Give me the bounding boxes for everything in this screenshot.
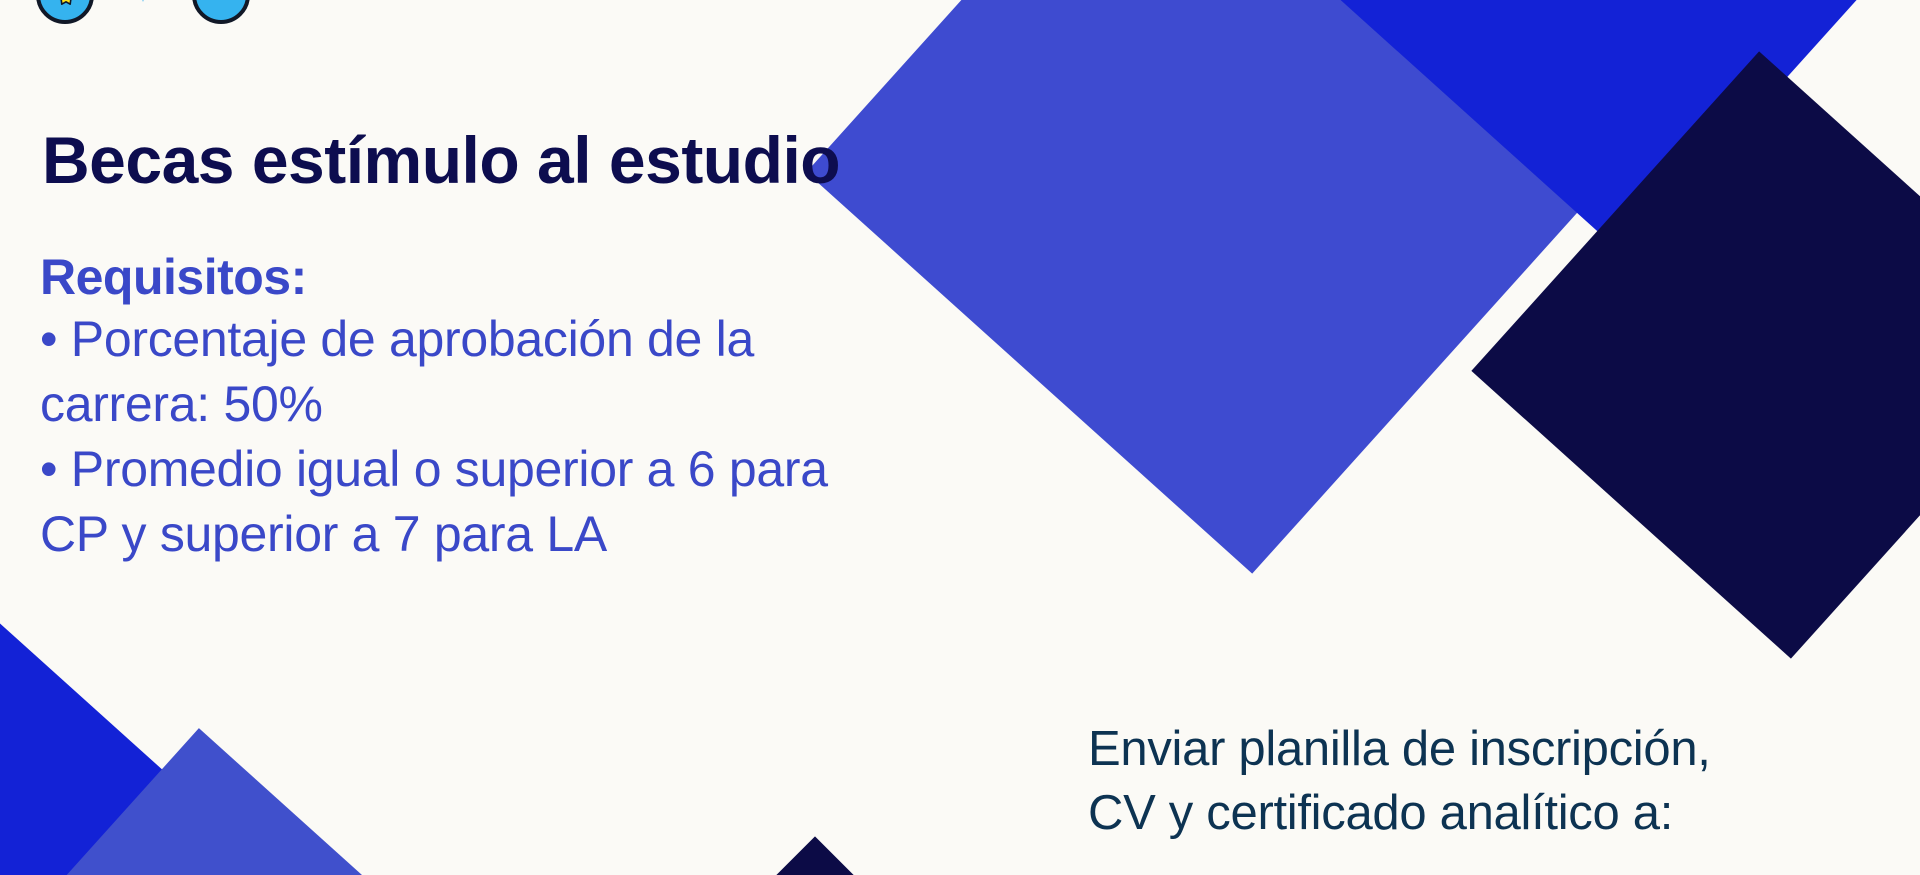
- requirement-line-3: • Promedio igual o superior a 6 para: [40, 437, 940, 502]
- requirements-block: Requisitos: • Porcentaje de aprobación d…: [40, 248, 940, 567]
- requirement-line-4: CP y superior a 7 para LA: [40, 502, 940, 567]
- send-instructions-line-2: CV y certificado analítico a:: [1088, 782, 1878, 846]
- slide-canvas: Becas estímulo al estudio Requisitos: • …: [0, 0, 1920, 875]
- requirement-line-2: carrera: 50%: [40, 372, 940, 437]
- requirements-heading: Requisitos:: [40, 248, 940, 307]
- send-instructions-block: Enviar planilla de inscripción, CV y cer…: [1088, 718, 1878, 845]
- send-instructions-line-1: Enviar planilla de inscripción,: [1088, 718, 1878, 782]
- slide-content: Becas estímulo al estudio Requisitos: • …: [0, 0, 1920, 875]
- page-title: Becas estímulo al estudio: [42, 126, 840, 195]
- requirement-line-1: • Porcentaje de aprobación de la: [40, 307, 940, 372]
